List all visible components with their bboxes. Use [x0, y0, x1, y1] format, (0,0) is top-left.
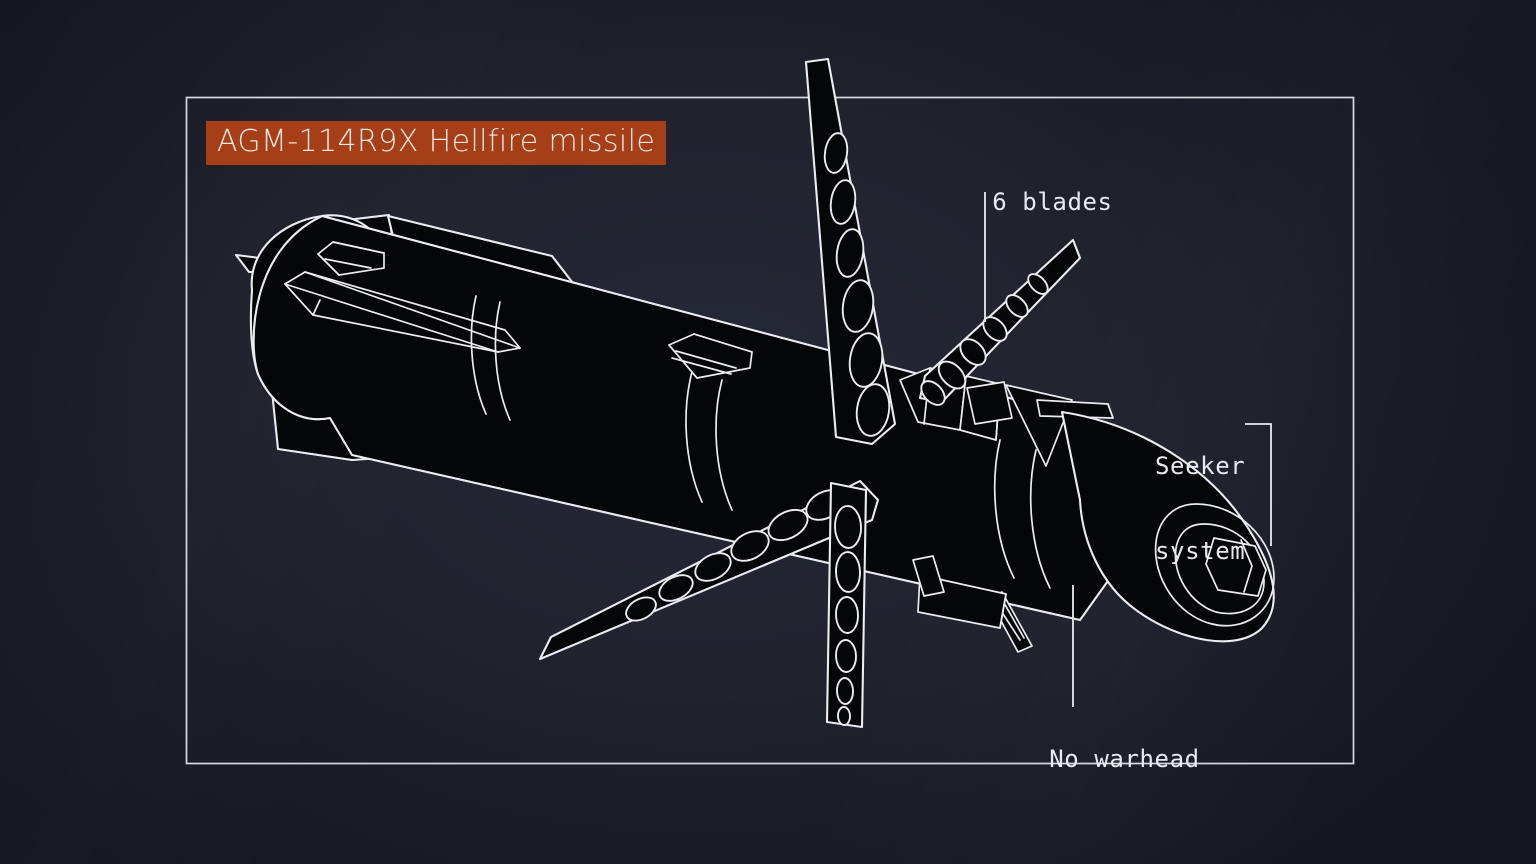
- callout-blades-text: 6 blades: [992, 188, 1112, 216]
- kinetic-blade-5: [967, 382, 1012, 424]
- callout-warhead-text: No warhead: [1049, 745, 1200, 773]
- diagram-canvas: .ln { fill: none; stroke: #e9ecf2; strok…: [0, 0, 1536, 864]
- callout-label-blades: 6 blades: [932, 160, 1113, 245]
- callout-seeker-line-1: Seeker: [1155, 452, 1245, 480]
- diagram-title: AGM-114R9X Hellfire missile: [217, 127, 655, 157]
- diagram-title-banner: AGM-114R9X Hellfire missile: [206, 121, 666, 165]
- callout-label-warhead: No warhead: [989, 717, 1200, 802]
- callout-seeker-line-2: system: [1155, 537, 1245, 565]
- callout-label-seeker: Seeker system: [1155, 395, 1245, 622]
- kinetic-blade-4: [827, 483, 866, 727]
